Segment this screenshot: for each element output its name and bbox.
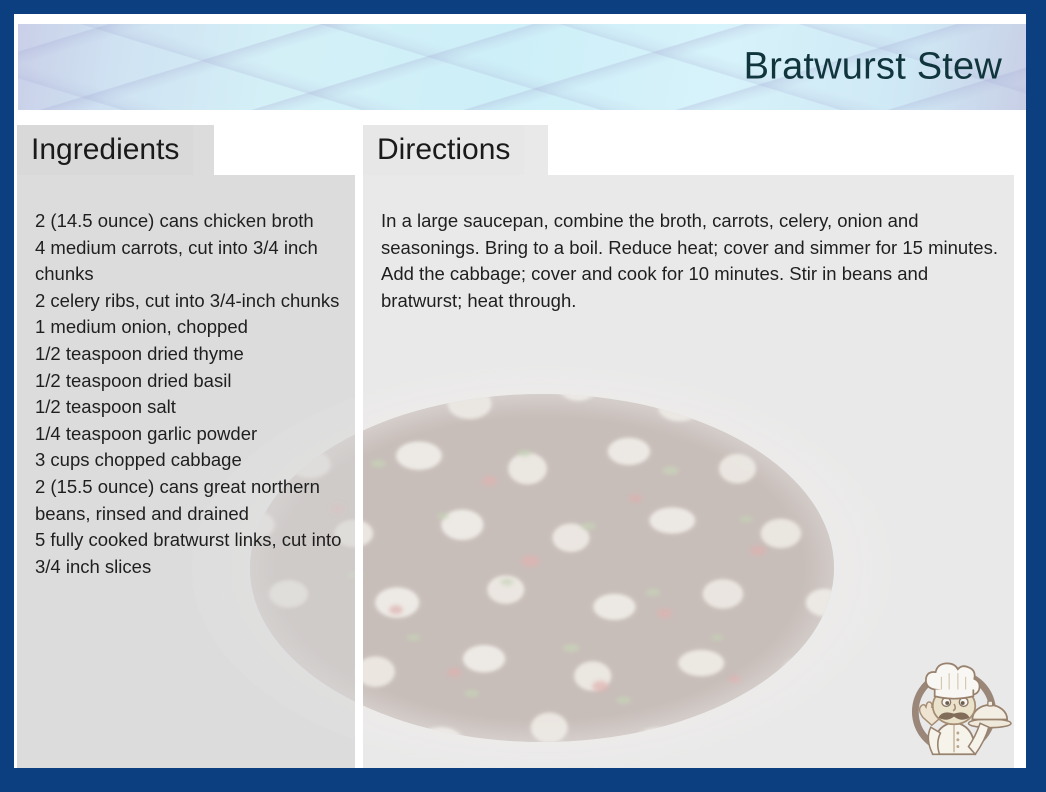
ingredient-item: 1/2 teaspoon dried thyme [35, 341, 365, 368]
title-banner: Bratwurst Stew [18, 24, 1026, 110]
page-title: Bratwurst Stew [744, 46, 1002, 89]
ingredient-item: 5 fully cooked bratwurst links, cut into… [35, 527, 365, 580]
ingredients-heading: Ingredients [17, 125, 193, 175]
card-canvas: Bratwurst Stew Ingredients 2 (14.5 ounce… [14, 14, 1026, 768]
ingredient-item: 1/2 teaspoon salt [35, 394, 365, 421]
frame-border-right [1026, 0, 1046, 792]
ingredients-tab-mask [214, 125, 364, 175]
frame-border-left [0, 0, 14, 792]
recipe-card: Bratwurst Stew Ingredients 2 (14.5 ounce… [0, 0, 1046, 792]
ingredients-list: 2 (14.5 ounce) cans chicken broth4 mediu… [35, 208, 365, 580]
frame-border-top [0, 0, 1046, 14]
ingredient-item: 4 medium carrots, cut into 3/4 inch chun… [35, 235, 365, 288]
ingredient-item: 2 (14.5 ounce) cans chicken broth [35, 208, 365, 235]
ingredient-item: 2 (15.5 ounce) cans great northern beans… [35, 474, 365, 527]
ingredient-item: 1/4 teaspoon garlic powder [35, 421, 365, 448]
directions-tab-mask [548, 125, 1018, 175]
frame-border-bottom [0, 768, 1046, 792]
ingredient-item: 1 medium onion, chopped [35, 314, 365, 341]
panel-gutter [355, 125, 363, 768]
ingredient-item: 1/2 teaspoon dried basil [35, 368, 365, 395]
ingredient-item: 2 celery ribs, cut into 3/4-inch chunks [35, 288, 365, 315]
directions-text: In a large saucepan, combine the broth, … [381, 208, 1001, 314]
chef-mascot-logo [896, 646, 1012, 762]
directions-heading: Directions [363, 125, 524, 175]
ingredient-item: 3 cups chopped cabbage [35, 447, 365, 474]
ingredients-panel: Ingredients 2 (14.5 ounce) cans chicken … [17, 125, 355, 768]
